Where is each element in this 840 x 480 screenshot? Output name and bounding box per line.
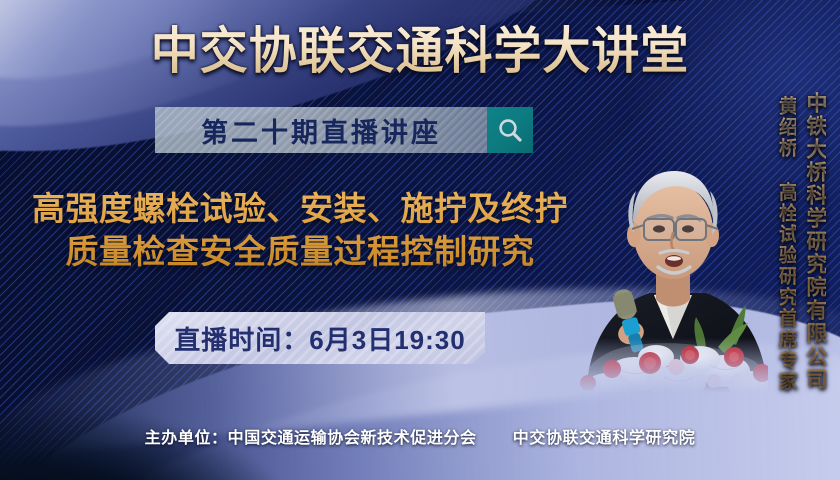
lecture-title-line-2: 质量检查安全质量过程控制研究 — [10, 231, 590, 274]
broadcast-time-label: 直播时间：6月3日19:30 — [174, 320, 465, 357]
search-icon[interactable] — [487, 107, 533, 153]
poster-canvas: 中交协联交通科学大讲堂 第二十期直播讲座 高强度螺栓试验、安装、施拧及终拧 质量… — [0, 0, 840, 480]
speaker-organization: 中铁大桥科学研究院有限公司 — [805, 92, 826, 391]
subtitle-label: 第二十期直播讲座 — [201, 111, 441, 150]
speaker-portrait — [578, 143, 768, 393]
lecture-title-line-1: 高强度螺栓试验、安装、施拧及终拧 — [10, 188, 590, 231]
broadcast-time-badge: 直播时间：6月3日19:30 — [155, 312, 485, 364]
organizer-footer: 主办单位：中国交通运输协会新技术促进分会 中交协联交通科学研究院 — [0, 424, 840, 448]
speaker-name-role: 黄绍桥 高栓试验研究首席专家 — [777, 96, 796, 392]
lecture-title: 高强度螺栓试验、安装、施拧及终拧 质量检查安全质量过程控制研究 — [10, 188, 590, 274]
page-title: 中交协联交通科学大讲堂 — [17, 14, 823, 80]
organizer-primary: 主办单位：中国交通运输协会新技术促进分会 — [145, 430, 477, 447]
organizer-secondary: 中交协联交通科学研究院 — [513, 430, 696, 447]
subtitle-bar: 第二十期直播讲座 — [155, 107, 487, 153]
